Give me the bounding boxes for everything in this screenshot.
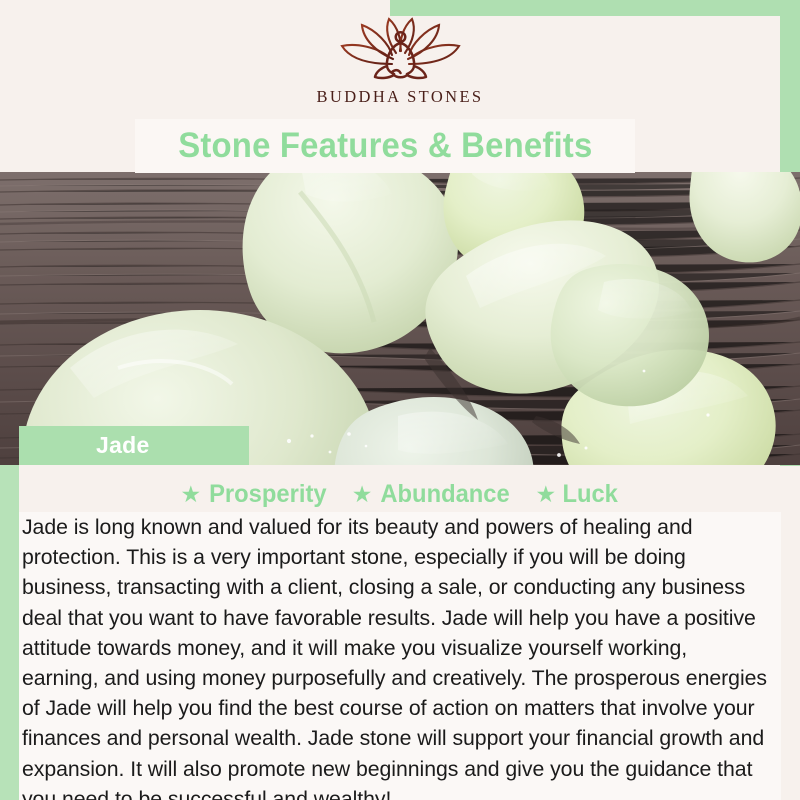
stone-name-band: Jade: [19, 426, 249, 465]
benefit-item: ★ Luck: [536, 480, 620, 509]
frame-accent-bottom-left: [0, 760, 19, 800]
benefits-row: ★ Prosperity ★ Abundance ★ Luck: [0, 478, 800, 510]
header-title-band: Stone Features & Benefits: [135, 119, 635, 173]
brand-logo-block: BUDDHA STONES: [0, 0, 800, 118]
star-icon: ★: [180, 483, 201, 506]
benefit-item: ★ Prosperity: [180, 480, 329, 509]
description-block: Jade is long known and valued for its be…: [19, 512, 781, 800]
benefit-label: Prosperity: [209, 480, 326, 509]
stone-name: Jade: [96, 432, 150, 459]
hero-image: [0, 172, 800, 465]
description-text: Jade is long known and valued for its be…: [19, 512, 770, 800]
star-icon: ★: [536, 483, 557, 506]
jade-stones-photo: [0, 172, 800, 465]
benefit-label: Abundance: [381, 480, 510, 509]
star-icon: ★: [352, 483, 373, 506]
benefit-label: Luck: [563, 480, 618, 509]
benefit-item: ★ Abundance: [352, 480, 514, 509]
brand-name: BUDDHA STONES: [316, 87, 483, 107]
lotus-meditation-icon: [333, 16, 468, 86]
page-title: Stone Features & Benefits: [178, 126, 592, 166]
infographic-card: BUDDHA STONES Stone Features & Benefits: [0, 0, 800, 800]
